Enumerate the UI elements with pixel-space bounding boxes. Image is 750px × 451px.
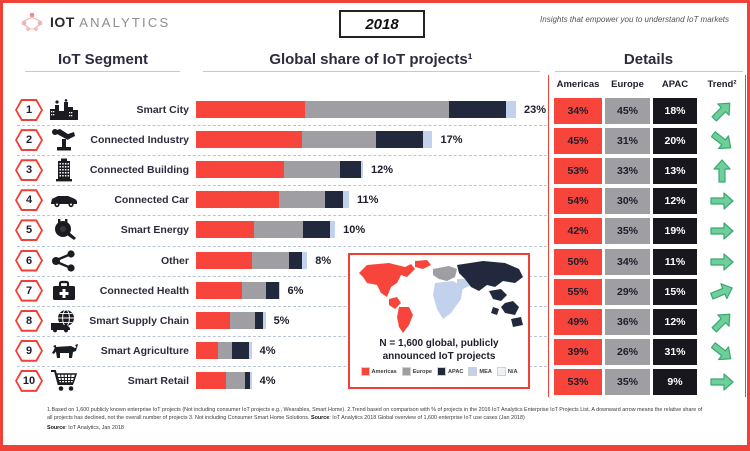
cell-americas: 49% [554,309,602,335]
row-divider [17,125,547,126]
share-nodes-icon [47,248,81,274]
divider-segment [25,71,180,72]
segment-label: Connected Building [85,164,189,176]
bar-segment-americas [196,131,302,148]
rank-badge: 1 [15,99,43,121]
divider-details [555,71,743,72]
details-header-trend: Trend² [700,76,744,92]
rank-badge: 3 [15,159,43,181]
details-header-europe: Europe [605,76,650,92]
column-title-details: Details [551,51,746,68]
rank-number: 2 [26,134,32,146]
smart-city-icon [47,97,81,123]
cell-apac: 12% [653,309,697,335]
trend-arrow-icon [700,98,744,124]
details-header-americas: Americas [554,76,602,92]
bar-value-label: 10% [343,224,365,236]
stacked-bar[interactable] [196,221,335,238]
bar-segment-americas [196,312,230,329]
rank-number: 6 [26,255,32,267]
bar-value-label: 17% [441,134,463,146]
brand-logo: IOT ANALYTICS [21,12,170,32]
cell-apac: 11% [653,249,697,275]
table-row[interactable]: 5Smart Energy10%42%35%19% [3,216,747,246]
bar-value-label: 4% [260,345,276,357]
segment-label: Smart Supply Chain [85,315,189,327]
cell-apac: 19% [653,218,697,244]
world-map-icon [353,257,527,335]
rank-number: 8 [26,315,32,327]
footnote-source-rest: : IoT Analytics 2018 Global overview of … [329,415,524,421]
divider-chart [203,71,540,72]
trend-arrow-icon [700,369,744,395]
bar-segment-europe [218,342,232,359]
bar-segment-mea [506,101,516,118]
segment-label: Other [85,255,189,267]
footer-accent-bar [3,445,747,448]
cell-europe: 36% [605,309,650,335]
cell-apac: 31% [653,339,697,365]
bar-segment-europe [302,131,375,148]
bar-segment-americas [196,221,254,238]
cell-americas: 54% [554,188,602,214]
cell-europe: 45% [605,98,650,124]
cell-apac: 18% [653,98,697,124]
legend-swatch [402,367,411,376]
rank-badge: 5 [15,219,43,241]
logo-text-light: ANALYTICS [79,15,170,30]
bar-segment-mea [250,372,252,389]
legend-label: MEA [479,369,491,375]
bar-value-label: 8% [315,255,331,267]
bar-segment-mea [330,221,336,238]
footnote-source-line-bold: Source [47,425,65,431]
segment-label: Smart Energy [85,224,189,236]
bar-segment-americas [196,282,242,299]
row-divider [17,155,547,156]
shopping-cart-icon [47,368,81,394]
legend-label: Americas [372,369,397,375]
bar-segment-europe [279,191,325,208]
stacked-bar[interactable] [196,282,279,299]
rank-number: 4 [26,194,32,206]
segment-label: Connected Car [85,194,189,206]
cell-americas: 55% [554,279,602,305]
footnote: 1.Based on 1,600 publicly known enterpri… [47,406,707,432]
bar-segment-americas [196,252,252,269]
cell-americas: 45% [554,128,602,154]
car-icon [47,187,81,213]
trend-arrow-icon [700,218,744,244]
bar-value-label: 23% [524,104,546,116]
bar-segment-apac [340,161,362,178]
bar-segment-mea [279,282,280,299]
legend-label: APAC [448,369,463,375]
rank-number: 3 [26,164,32,176]
map-caption-line1: N = 1,600 global, publicly [350,337,528,350]
bar-value-label: 12% [371,164,393,176]
column-title-chart: Global share of IoT projects¹ [195,51,547,68]
segment-label: Connected Industry [85,134,189,146]
bar-value-label: 11% [357,194,378,206]
stacked-bar[interactable] [196,342,252,359]
stacked-bar[interactable] [196,312,266,329]
year-badge: 2018 [339,10,425,38]
bar-segment-apac [232,342,249,359]
tagline: Insights that empower you to understand … [540,15,729,24]
rank-badge: 2 [15,129,43,151]
cell-americas: 39% [554,339,602,365]
bar-segment-europe [252,252,290,269]
bar-segment-apac [255,312,263,329]
bar-segment-mea [263,312,265,329]
trend-arrow-icon [700,309,744,335]
cell-americas: 42% [554,218,602,244]
column-title-segment: IoT Segment [17,51,189,68]
segment-label: Smart Agriculture [85,345,189,357]
map-caption: N = 1,600 global, publicly announced IoT… [350,337,528,363]
legend-label: Europe [413,369,432,375]
row-divider [17,246,547,247]
legend-swatch [361,367,370,376]
bar-segment-europe [230,312,255,329]
trend-arrow-icon [700,339,744,365]
infographic-root: IOT ANALYTICS 2018 Insights that empower… [0,0,750,451]
legend-item: APAC [437,367,463,376]
year-label: 2018 [365,16,398,33]
iot-analytics-logo-icon [21,12,43,32]
table-row[interactable]: 1Smart City23%34%45%18% [3,96,747,126]
cell-europe: 30% [605,188,650,214]
legend-item: Europe [402,367,432,376]
trend-arrow-icon [700,188,744,214]
medical-kit-icon [47,278,81,304]
table-row[interactable]: 3Connected Building12%53%33%13% [3,156,747,186]
legend-item: Americas [361,367,397,376]
bar-segment-americas [196,101,305,118]
stacked-bar[interactable] [196,252,307,269]
rank-badge: 10 [15,370,43,392]
cell-americas: 34% [554,98,602,124]
bar-segment-mea [423,131,432,148]
building-icon [47,157,81,183]
header: IOT ANALYTICS 2018 Insights that empower… [3,3,747,43]
legend-label: N/A [508,369,518,375]
cell-europe: 29% [605,279,650,305]
robot-arm-icon [47,127,81,153]
stacked-bar[interactable] [196,161,363,178]
bar-segment-apac [376,131,423,148]
stacked-bar[interactable] [196,101,516,118]
trend-arrow-icon [700,279,744,305]
cell-apac: 13% [653,158,697,184]
legend-swatch [437,367,446,376]
trend-arrow-icon [700,158,744,184]
cell-europe: 26% [605,339,650,365]
legend-swatch [497,367,506,376]
footnote-source-bold: Source [311,415,329,421]
cell-apac: 12% [653,188,697,214]
rank-badge: 8 [15,310,43,332]
power-plug-icon [47,217,81,243]
table-row[interactable]: 2Connected Industry17%45%31%20% [3,126,747,156]
cell-europe: 34% [605,249,650,275]
segment-label: Smart Retail [85,375,189,387]
bar-segment-europe [242,282,266,299]
bar-value-label: 6% [287,285,303,297]
bar-segment-europe [284,161,339,178]
stacked-bar[interactable] [196,131,433,148]
bar-segment-apac [289,252,301,269]
cell-apac: 20% [653,128,697,154]
bar-segment-apac [449,101,507,118]
legend-swatch [468,367,477,376]
bar-segment-apac [325,191,343,208]
cow-icon [47,338,81,364]
bar-segment-mea [343,191,349,208]
cell-apac: 9% [653,369,697,395]
row-divider [17,185,547,186]
rank-number: 5 [26,224,32,236]
rank-number: 7 [26,285,32,297]
trend-arrow-icon [700,249,744,275]
cell-europe: 35% [605,218,650,244]
bar-segment-europe [226,372,245,389]
stacked-bar[interactable] [196,191,349,208]
bar-segment-europe [305,101,449,118]
rank-badge: 6 [15,250,43,272]
legend-item: N/A [497,367,518,376]
bar-segment-americas [196,191,279,208]
bar-segment-mea [302,252,308,269]
map-inset: N = 1,600 global, publicly announced IoT… [348,253,530,389]
details-header-apac: APAC [653,76,697,92]
rank-number: 1 [26,104,32,116]
bar-segment-americas [196,342,218,359]
bar-segment-europe [254,221,303,238]
cell-europe: 33% [605,158,650,184]
footnote-source-line-rest: : IoT Analytics, Jan 2018 [65,425,124,431]
row-divider [17,215,547,216]
cell-europe: 35% [605,369,650,395]
cell-americas: 53% [554,158,602,184]
bar-segment-mea [361,161,363,178]
segment-label: Smart City [85,104,189,116]
table-row[interactable]: 4Connected Car11%54%30%12% [3,186,747,216]
bar-segment-americas [196,372,226,389]
bar-segment-apac [303,221,329,238]
bar-value-label: 5% [274,315,290,327]
cell-americas: 53% [554,369,602,395]
map-caption-line2: announced IoT projects [350,350,528,363]
rank-badge: 4 [15,189,43,211]
legend-item: MEA [468,367,491,376]
cell-americas: 50% [554,249,602,275]
map-legend: AmericasEuropeAPACMEAN/A [350,367,528,376]
trend-arrow-icon [700,128,744,154]
globe-truck-icon [47,308,81,334]
logo-text-bold: IOT [50,14,75,30]
rank-number: 9 [26,345,32,357]
cell-apac: 15% [653,279,697,305]
bar-value-label: 4% [260,375,276,387]
segment-label: Connected Health [85,285,189,297]
bar-segment-americas [196,161,284,178]
rank-badge: 9 [15,340,43,362]
bar-segment-apac [266,282,279,299]
bar-segment-mea [249,342,251,359]
rank-number: 10 [23,375,35,387]
rank-badge: 7 [15,280,43,302]
stacked-bar[interactable] [196,372,252,389]
cell-europe: 31% [605,128,650,154]
